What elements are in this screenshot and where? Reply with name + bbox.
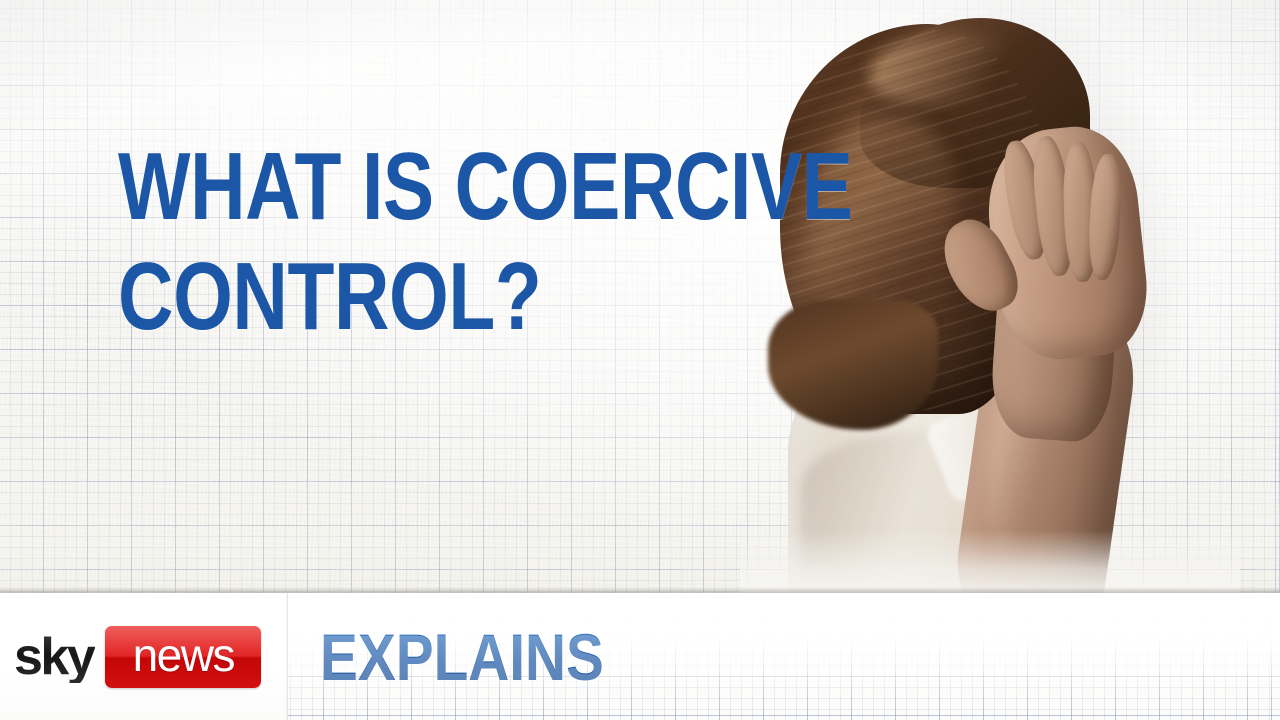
- subject-photo: [740, 0, 1240, 600]
- bottom-banner: sky news EXPLAINS: [0, 593, 1280, 720]
- news-wordmark: news: [133, 632, 234, 681]
- sky-wordmark: sky: [14, 631, 95, 683]
- subject-figure: [740, 0, 1240, 600]
- headline-line-1: WHAT IS COERCIVE: [118, 132, 630, 242]
- video-thumbnail: WHAT IS COERCIVE CONTROL? sky news EXPLA…: [0, 0, 1280, 720]
- programme-title: EXPLAINS: [320, 624, 604, 690]
- headline-line-2: CONTROL?: [118, 242, 630, 352]
- news-logo-box: news: [105, 626, 261, 688]
- programme-panel: EXPLAINS: [288, 593, 1280, 720]
- brand-logo-panel[interactable]: sky news: [0, 593, 288, 720]
- headline: WHAT IS COERCIVE CONTROL?: [118, 132, 758, 352]
- sky-news-logo[interactable]: sky news: [14, 626, 261, 688]
